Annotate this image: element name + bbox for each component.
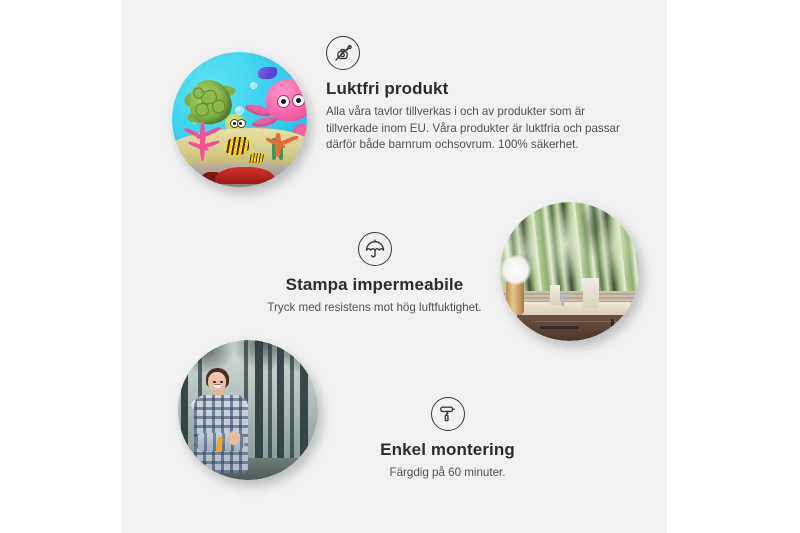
blue-fish-icon [258, 67, 277, 79]
infographic-screenshot: Luktfri produkt Alla våra tavlor tillver… [0, 0, 800, 533]
vanity-cabinet [517, 315, 639, 341]
octopus-head [266, 79, 307, 121]
octopus-eye-icon [277, 95, 290, 108]
feature-image-underwater-kids-illustration [172, 52, 307, 187]
towel [583, 278, 598, 309]
forest-photo-inner [178, 340, 318, 480]
feature-body: Färgdig på 60 minuter. [320, 465, 575, 482]
turtle-scute [211, 99, 227, 114]
feature-image-woman-paint-roller-forest-photo [178, 340, 318, 480]
turtle-eye-icon [237, 119, 246, 128]
eye-icon [213, 381, 216, 383]
pink-coral-illustration [180, 117, 234, 163]
faucet [561, 294, 564, 307]
coral-arm [200, 121, 205, 160]
cabinet-handle [632, 319, 635, 334]
feature-block-waterproof-print: Stampa impermeabile Tryck med resistens … [202, 232, 547, 317]
ocean-foreground-object [215, 167, 274, 185]
octopus-eye-icon [292, 94, 305, 107]
underwater-illustration-inner [172, 52, 307, 187]
cabinet-handle [611, 319, 614, 334]
hand [229, 431, 239, 446]
yellow-striped-fish-icon [226, 137, 249, 155]
feature-body: Alla våra tavlor tillverkas i och av pro… [326, 104, 621, 154]
turtle-scute [194, 102, 210, 117]
feature-title: Stampa impermeabile [202, 275, 547, 295]
woman-with-paint-roller [186, 368, 262, 480]
drawer-handle [540, 326, 579, 329]
feature-block-easy-mounting: Enkel montering Färgdig på 60 minuter. [320, 397, 575, 482]
feature-title: Enkel montering [320, 440, 575, 460]
umbrella-icon [358, 232, 392, 266]
towel [550, 285, 560, 304]
infographic-panel: Luktfri produkt Alla våra tavlor tillver… [122, 0, 667, 533]
feature-title: Luktfri produkt [326, 79, 621, 99]
drawer-seam [535, 321, 634, 322]
orange-coral-illustration [264, 133, 305, 160]
paint-roller-icon [431, 397, 465, 431]
eye-icon [220, 381, 223, 383]
no-scent-perfume-icon [326, 36, 360, 70]
feature-body: Tryck med resistens mot hög luftfuktighe… [202, 300, 547, 317]
feature-block-odour-free: Luktfri produkt Alla våra tavlor tillver… [326, 36, 621, 154]
